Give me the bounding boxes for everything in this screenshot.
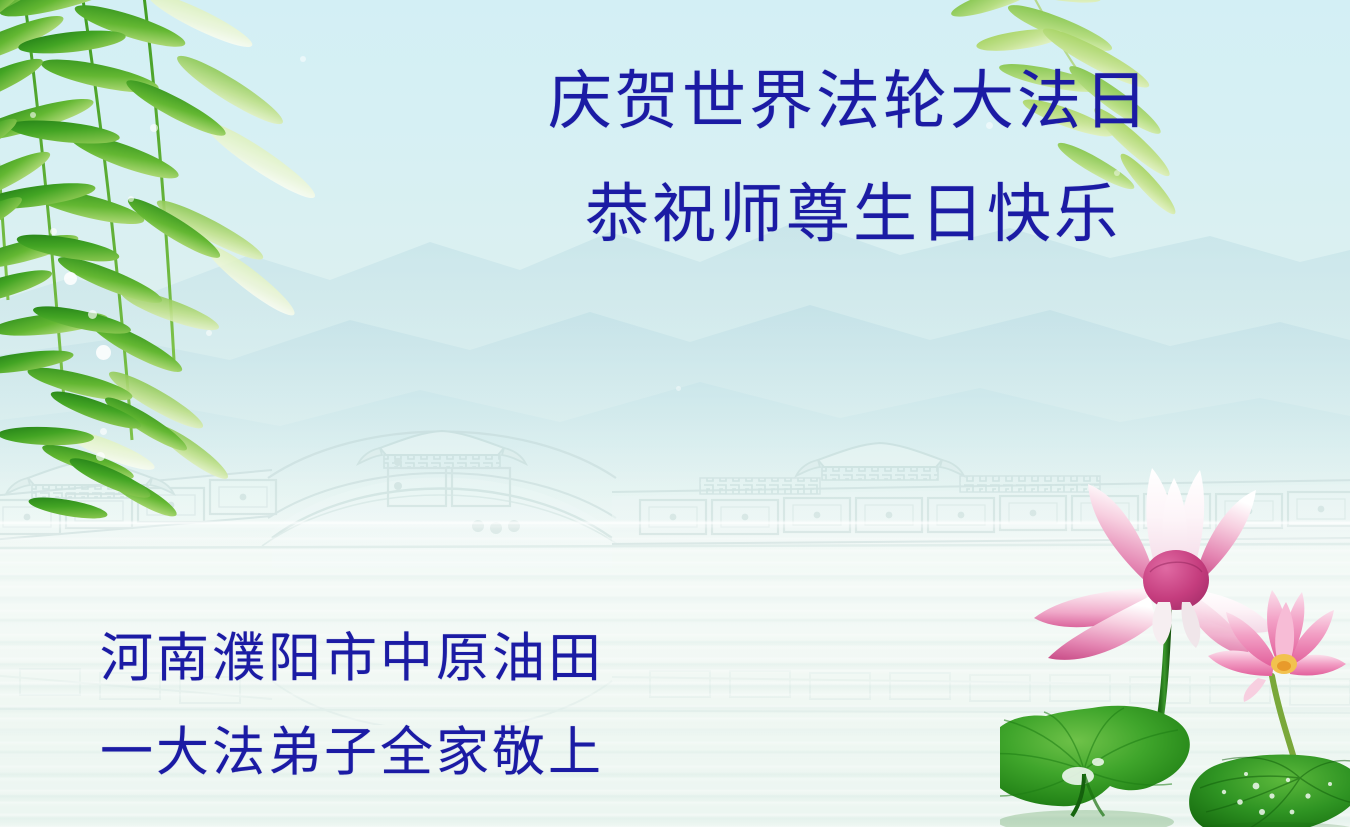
- signature-line-2: 一大法弟子全家敬上: [100, 710, 604, 786]
- water-ripples-secondary: [0, 560, 1350, 827]
- greeting-line-1: 庆贺世界法轮大法日: [548, 50, 1151, 142]
- signature-line-1: 河南濮阳市中原油田: [100, 616, 604, 692]
- greeting-card: 庆贺世界法轮大法日 恭祝师尊生日快乐 河南濮阳市中原油田 一大法弟子全家敬上: [0, 0, 1350, 827]
- greeting-line-2: 恭祝师尊生日快乐: [585, 163, 1121, 255]
